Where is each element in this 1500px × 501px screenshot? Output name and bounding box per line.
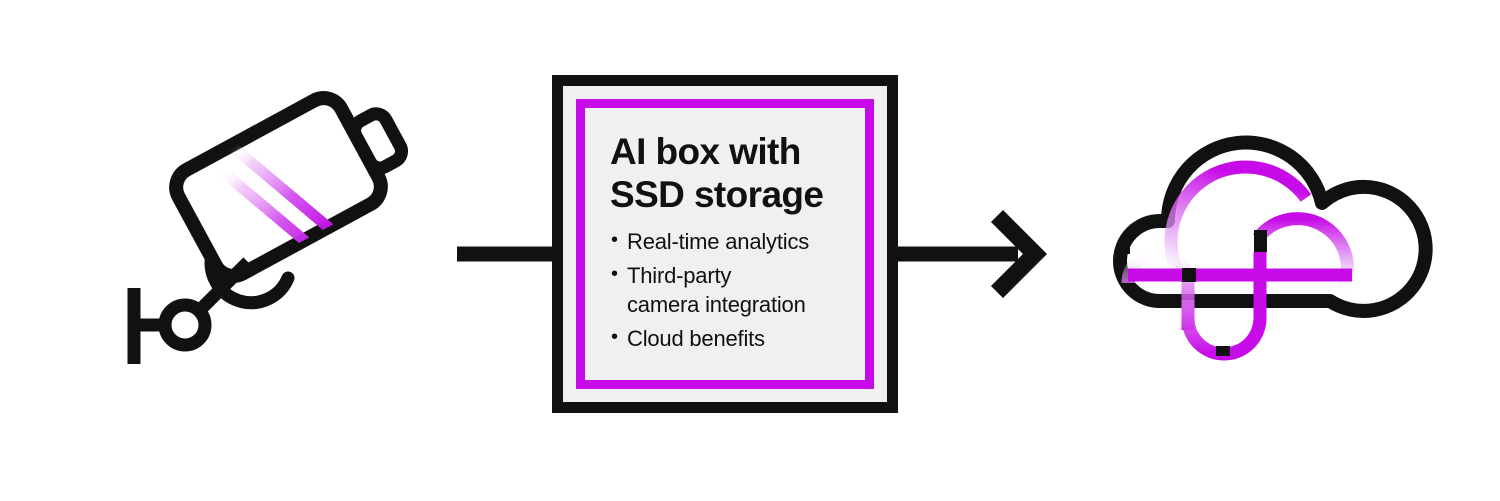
ai-box-node[interactable]: AI box with SSD storage Real-time analyt… xyxy=(552,75,898,413)
diagram-canvas: AI box with SSD storage Real-time analyt… xyxy=(0,0,1500,501)
ai-box-benefit-list: Real-time analytics Third-party camera i… xyxy=(610,227,851,353)
ai-box-content: AI box with SSD storage Real-time analyt… xyxy=(610,130,851,370)
list-item: Cloud benefits xyxy=(610,324,851,353)
list-item: Third-party camera integration xyxy=(610,261,851,319)
cloud-crossing-dash-bottom xyxy=(1216,346,1230,356)
ai-box-inner-border: AI box with SSD storage Real-time analyt… xyxy=(576,99,874,389)
cloud-crossing-dash-mid xyxy=(1182,268,1196,282)
ai-box-title: AI box with SSD storage xyxy=(610,130,851,216)
cloud-crossing-dash-left xyxy=(1122,238,1130,254)
list-item: Real-time analytics xyxy=(610,227,851,256)
cloud-crossing-dash-right xyxy=(1254,230,1267,252)
